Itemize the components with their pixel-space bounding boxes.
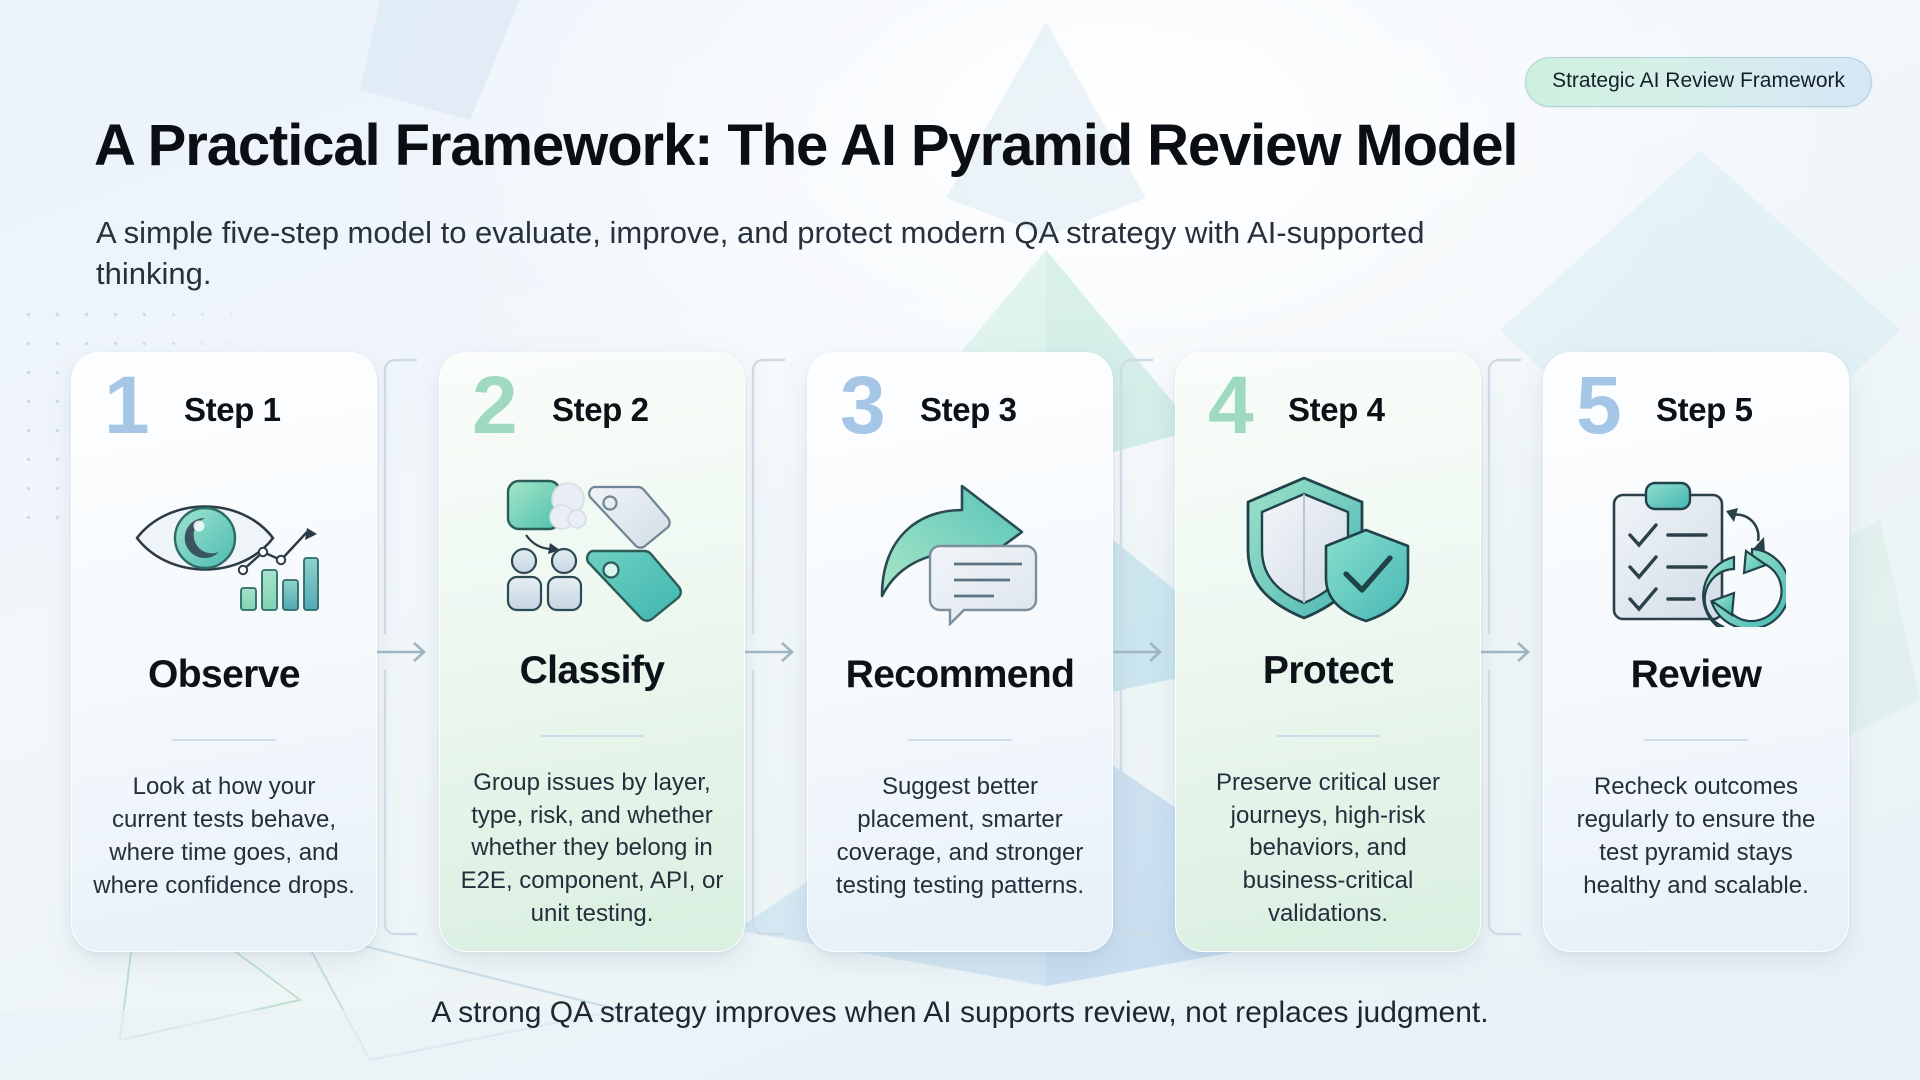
step-title: Protect [1263,649,1393,693]
connector-3 [1113,352,1175,952]
connector-4 [1481,352,1543,952]
card-divider [540,735,644,737]
card-divider [1276,735,1380,737]
step-title: Classify [520,649,665,693]
arrow-step3-to-step4 [1113,352,1175,952]
step-label: Step 3 [920,391,1017,429]
step-description: Recheck outcomes regularly to ensure the… [1564,771,1828,903]
status-badge: Strategic AI Review Framework [1525,57,1872,107]
step-number: 3 [840,365,884,447]
arrow-step4-to-step5 [1481,352,1543,952]
step-number: 4 [1208,365,1252,447]
card-divider [172,739,276,741]
step-title: Observe [148,653,300,697]
page-subtitle: A simple five-step model to evaluate, im… [96,212,1516,294]
step-label: Step 4 [1288,391,1385,429]
step-number: 5 [1576,365,1620,447]
step-card-recommend[interactable]: 3 Step 3 Recommend [807,352,1113,952]
card-header: 1 Step 1 [92,379,356,453]
card-divider [908,739,1012,741]
card-header: 2 Step 2 [460,379,724,452]
step-description: Preserve critical user journeys, high-ri… [1196,767,1460,931]
page-title: A Practical Framework: The AI Pyramid Re… [94,112,1517,179]
steps-row: 1 Step 1 [0,352,1920,952]
clipboard-refresh-icon [1564,453,1828,649]
step-card-classify[interactable]: 2 Step 2 [439,352,745,952]
step-card-observe[interactable]: 1 Step 1 [71,352,377,952]
shield-check-icon [1196,452,1460,645]
card-header: 4 Step 4 [1196,379,1460,452]
connector-2 [745,352,807,952]
step-description: Look at how your current tests behave, w… [92,771,356,903]
step-title: Recommend [846,653,1075,697]
eye-analytics-icon [92,453,356,649]
card-header: 3 Step 3 [828,379,1092,453]
step-description: Group issues by layer, type, risk, and w… [460,767,724,931]
card-divider [1644,739,1748,741]
step-label: Step 1 [184,391,281,429]
footer-caption: A strong QA strategy improves when AI su… [0,996,1920,1030]
card-header: 5 Step 5 [1564,379,1828,453]
step-label: Step 2 [552,391,649,429]
step-card-review[interactable]: 5 Step 5 [1543,352,1849,952]
connector-1 [377,352,439,952]
share-arrow-chat-icon [828,453,1092,649]
step-number: 2 [472,365,516,447]
step-number: 1 [104,365,148,447]
arrow-step1-to-step2 [377,352,439,952]
step-card-protect[interactable]: 4 Step 4 [1175,352,1481,952]
arrow-step2-to-step3 [745,352,807,952]
step-description: Suggest better placement, smarter covera… [828,771,1092,903]
group-tags-icon [460,452,724,645]
step-title: Review [1631,653,1762,697]
step-label: Step 5 [1656,391,1753,429]
